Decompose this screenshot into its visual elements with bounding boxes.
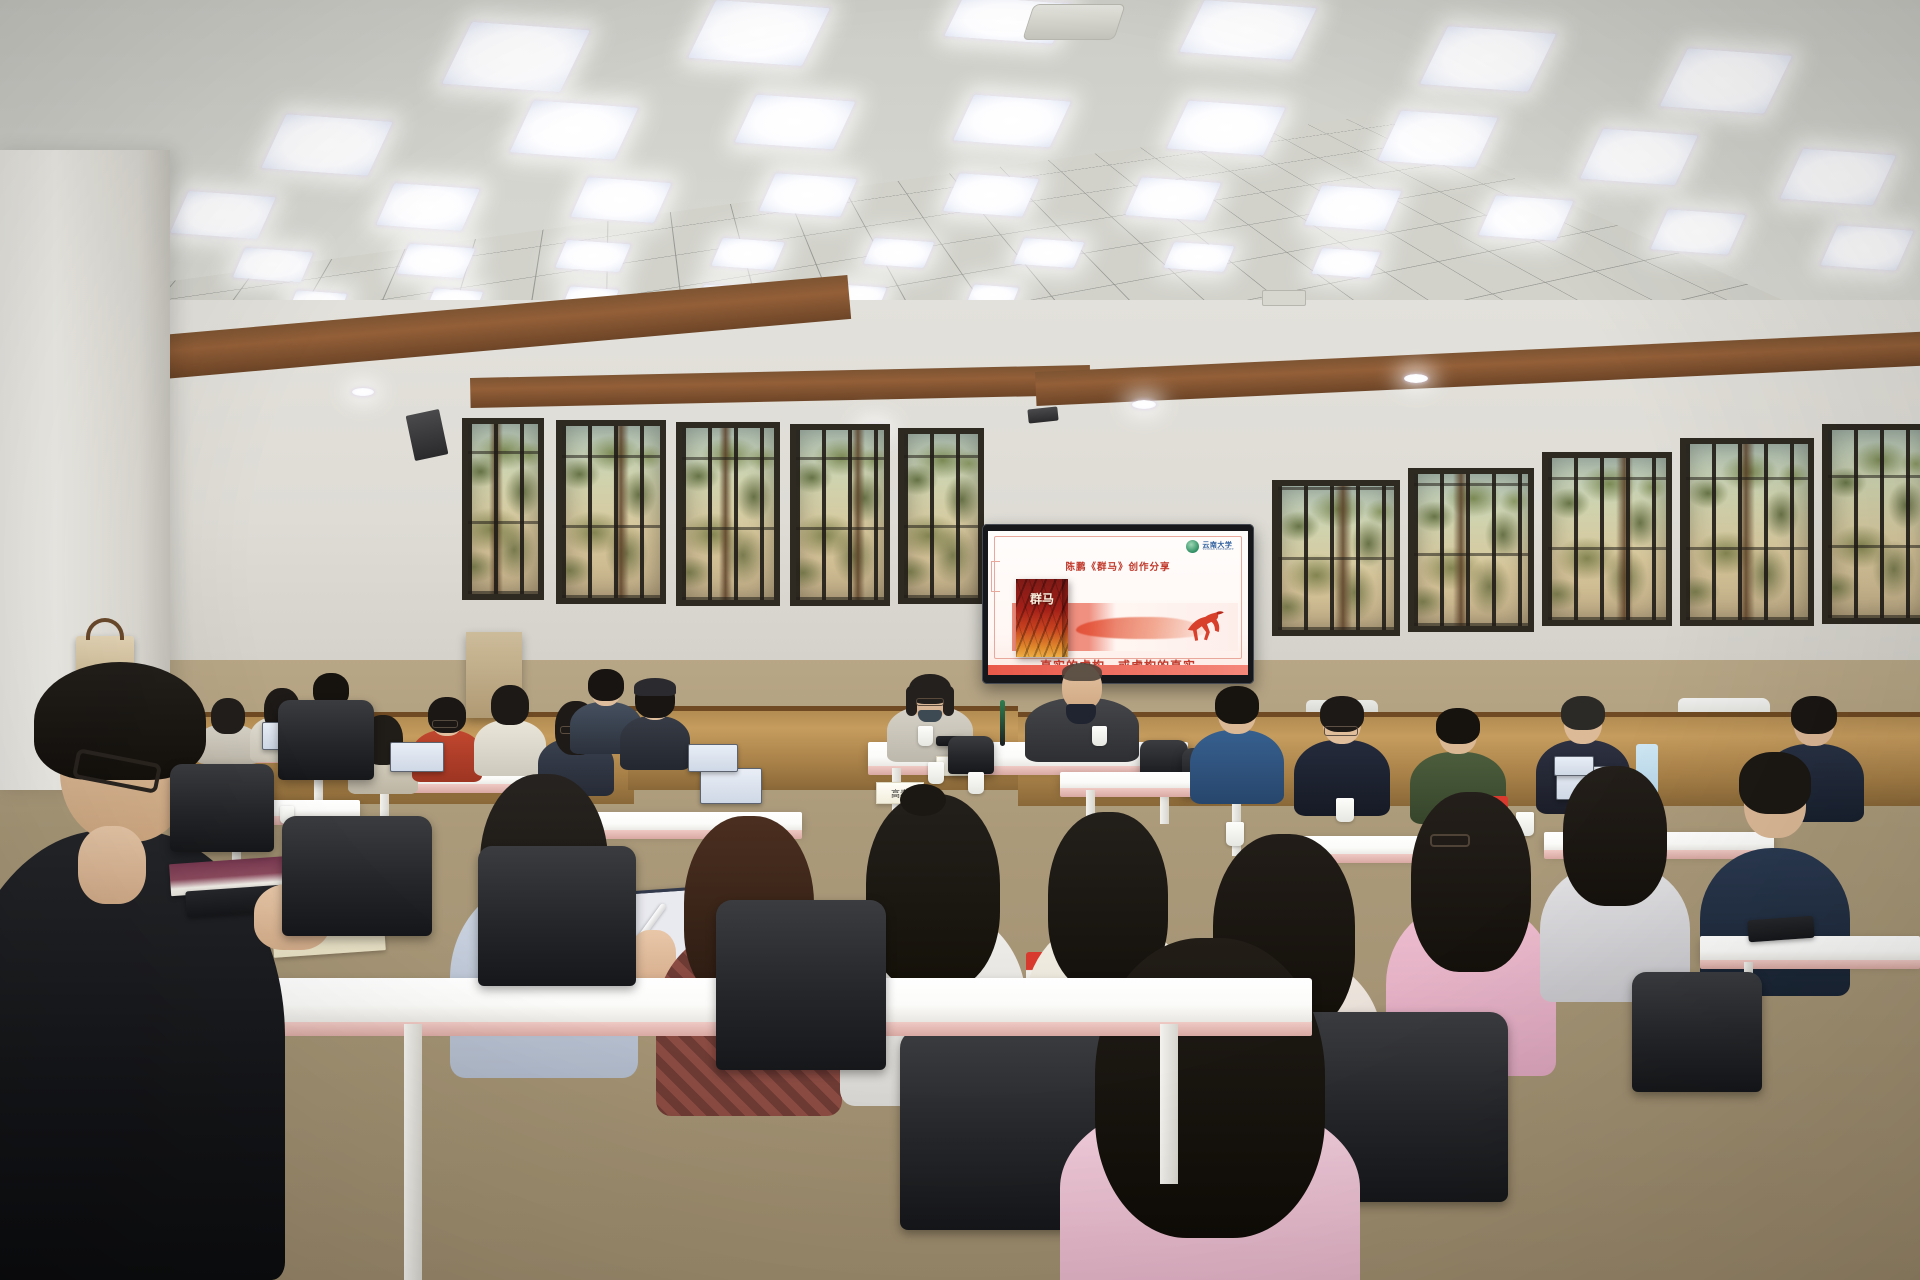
eyeglasses-icon — [1324, 726, 1358, 736]
university-logo-text: 云南大学 YUNNAN UNIVERSITY — [1202, 542, 1234, 552]
ceiling-light-panel — [570, 177, 671, 223]
ceiling-light-panel — [863, 238, 934, 268]
torso — [1190, 730, 1284, 804]
ceiling-light-panel — [1013, 238, 1084, 268]
window — [1272, 480, 1400, 636]
microphone[interactable] — [1000, 700, 1005, 746]
slide-header-title: 陈鹏《群马》创作分享 — [988, 559, 1248, 573]
ceiling-light-panel — [1125, 177, 1221, 221]
speaker-right — [1022, 664, 1142, 760]
ceiling-light-panel — [1311, 248, 1380, 278]
attendee — [1190, 690, 1284, 800]
hand — [78, 826, 146, 904]
paper-cup — [918, 726, 933, 746]
downlight — [1132, 400, 1156, 409]
ceiling-light-panel — [397, 244, 476, 279]
hair-side — [943, 686, 954, 716]
chair[interactable] — [478, 846, 636, 986]
chair[interactable] — [170, 764, 274, 852]
hair — [1791, 696, 1837, 734]
university-emblem-icon — [1186, 540, 1199, 553]
running-horse-icon — [1182, 607, 1226, 647]
hair — [1436, 708, 1480, 744]
ceiling-light-panel — [943, 173, 1039, 217]
downlight — [352, 388, 374, 396]
hair — [1561, 696, 1605, 730]
attendee — [1294, 700, 1390, 812]
hair — [866, 794, 1000, 990]
wall-display[interactable]: 云南大学 YUNNAN UNIVERSITY 陈鹏《群马》创作分享 群马 真实的… — [982, 524, 1254, 684]
chair[interactable] — [716, 900, 886, 1070]
book-spine — [1062, 579, 1068, 657]
shaved-hair — [1062, 663, 1102, 681]
window — [898, 428, 984, 604]
ceiling-light-panel — [233, 248, 314, 283]
shirt-collar — [1066, 704, 1096, 724]
torso — [620, 716, 690, 770]
student-desk — [1700, 936, 1920, 962]
laptop[interactable] — [700, 768, 762, 804]
eyeglasses-icon — [1430, 834, 1470, 847]
ceiling-light-panel — [759, 173, 857, 217]
hair — [1411, 792, 1531, 972]
chair[interactable] — [1632, 972, 1762, 1092]
attendee — [620, 684, 690, 768]
window — [1822, 424, 1920, 624]
foreground-left-attendee — [0, 650, 280, 1280]
classroom-photo-scene: Lecture hall literary creation sharing s… — [0, 0, 1920, 1280]
paper-cup — [928, 762, 944, 784]
desk-leg — [1160, 1024, 1178, 1184]
window — [1680, 438, 1814, 626]
laptop[interactable] — [688, 744, 738, 772]
chair[interactable] — [948, 736, 994, 774]
window — [1542, 452, 1672, 626]
air-vent — [1262, 290, 1306, 306]
book-cover-title: 群马 — [1016, 593, 1068, 606]
window — [790, 424, 890, 606]
hair — [588, 669, 624, 701]
window — [676, 422, 780, 606]
hair — [1563, 766, 1667, 906]
presentation-slide: 云南大学 YUNNAN UNIVERSITY 陈鹏《群马》创作分享 群马 真实的… — [988, 531, 1248, 675]
desk-leg — [404, 1024, 422, 1280]
ceiling-light-panel — [711, 238, 785, 270]
university-logo: 云南大学 YUNNAN UNIVERSITY — [1186, 540, 1234, 553]
collar — [918, 710, 942, 722]
hair-bun — [900, 784, 946, 816]
ceiling-light-panel — [555, 240, 631, 273]
chair[interactable] — [282, 816, 432, 936]
laptop[interactable] — [390, 742, 444, 772]
ceiling-light-panel — [376, 183, 480, 231]
hair — [491, 685, 529, 725]
window — [556, 420, 666, 604]
cap — [634, 678, 676, 696]
window — [462, 418, 544, 600]
downlight — [1404, 374, 1428, 383]
window — [1408, 468, 1534, 632]
hair — [1215, 686, 1259, 724]
torso — [474, 720, 546, 776]
chair[interactable] — [278, 700, 374, 780]
ceiling-light-panel — [170, 191, 276, 239]
ceiling-projector — [1022, 4, 1126, 40]
hair — [1739, 752, 1811, 814]
paper-cup — [1336, 798, 1354, 822]
eyeglasses-icon — [916, 698, 944, 706]
university-logo-subtitle: YUNNAN UNIVERSITY — [1202, 549, 1234, 552]
mobile-phone[interactable] — [1747, 916, 1814, 943]
paper-cup — [1092, 726, 1107, 746]
attendee — [1540, 764, 1690, 1000]
book-cover: 群马 — [1016, 579, 1068, 657]
eyeglasses-icon — [432, 720, 458, 728]
attendee — [474, 688, 546, 772]
ceiling-light-panel — [1163, 242, 1234, 272]
